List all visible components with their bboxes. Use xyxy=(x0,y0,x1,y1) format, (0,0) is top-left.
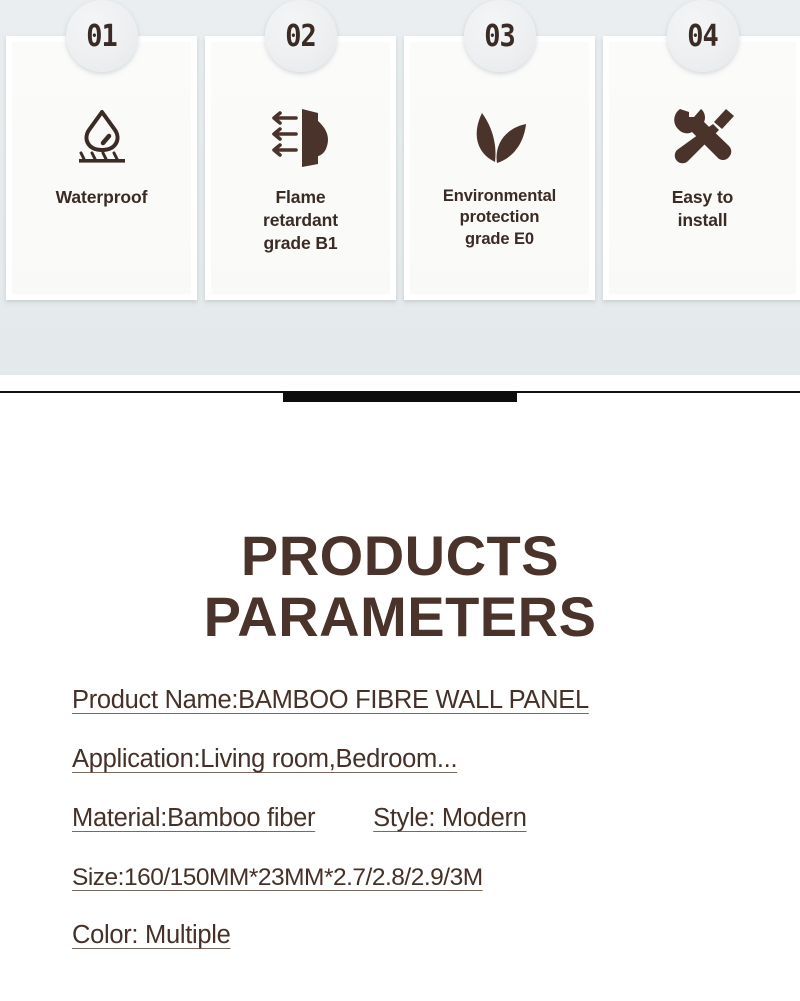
flame-retardant-panel-icon xyxy=(266,98,336,176)
parameter-row-color: Color: Multiple xyxy=(72,920,740,951)
feature-card-label-line: Flame xyxy=(275,187,325,207)
badge-number: 03 xyxy=(484,21,515,51)
feature-card-label-line: retardant xyxy=(263,210,338,230)
feature-badge-04: 04 xyxy=(667,0,739,72)
feature-card-inner: Environmental protection grade E0 xyxy=(410,42,589,294)
feature-card-easy-install[interactable]: 04 Easy to install xyxy=(603,36,800,300)
page-title-line1: PRODUCTS xyxy=(241,524,559,587)
badge-number: 01 xyxy=(86,21,117,51)
parameters-list: Product Name:BAMBOO FIBRE WALL PANEL App… xyxy=(0,685,800,951)
parameter-row-size: Size:160/150MM*23MM*2.7/2.8/2.9/3M xyxy=(72,863,740,893)
feature-card-label-line: install xyxy=(678,210,728,230)
feature-card-label-line: grade B1 xyxy=(263,233,337,253)
parameter-value: Product Name:BAMBOO FIBRE WALL PANEL xyxy=(72,686,589,714)
feature-card-environmental[interactable]: 03 Environmental protection grade E0 xyxy=(404,36,595,300)
badge-number: 04 xyxy=(687,21,718,51)
parameter-value-style: Style: Modern xyxy=(373,804,526,832)
parameter-value: Size:160/150MM*23MM*2.7/2.8/2.9/3M xyxy=(72,864,483,891)
feature-card-label: Flame retardant grade B1 xyxy=(211,186,390,254)
feature-card-label-line: grade E0 xyxy=(465,230,534,248)
section-divider xyxy=(0,375,800,487)
feature-card-inner: Easy to install xyxy=(609,42,796,294)
feature-card-waterproof[interactable]: 01 Waterproof xyxy=(6,36,197,300)
feature-card-label: Easy to install xyxy=(609,186,796,232)
leaves-icon xyxy=(466,98,534,176)
feature-badge-01: 01 xyxy=(66,0,138,72)
features-section: 01 Waterproof xyxy=(0,0,800,375)
parameter-value-material: Material:Bamboo fiber xyxy=(72,804,315,832)
parameter-value: Application:Living room,Bedroom... xyxy=(72,745,457,773)
feature-card-label: Waterproof xyxy=(12,186,191,209)
wrench-screwdriver-icon xyxy=(668,98,738,176)
feature-card-label-line: protection xyxy=(460,208,540,226)
feature-cards-row: 01 Waterproof xyxy=(0,36,800,302)
feature-badge-03: 03 xyxy=(464,0,536,72)
divider-center-tab xyxy=(283,391,517,402)
parameter-row-application: Application:Living room,Bedroom... xyxy=(72,744,740,775)
feature-card-inner: Waterproof xyxy=(12,42,191,294)
product-parameters-section: PRODUCTS PARAMETERS Product Name:BAMBOO … xyxy=(0,525,800,952)
badge-number: 02 xyxy=(285,21,316,51)
feature-card-flame-retardant[interactable]: 02 Flame reta xyxy=(205,36,396,300)
feature-card-label: Environmental protection grade E0 xyxy=(410,186,589,250)
feature-badge-02: 02 xyxy=(265,0,337,72)
parameter-row-material-style: Material:Bamboo fiberStyle: Modern xyxy=(72,803,740,834)
water-drop-icon xyxy=(69,98,135,176)
feature-card-label-line: Easy to xyxy=(672,187,734,207)
parameter-value: Color: Multiple xyxy=(72,921,230,949)
page-title: PRODUCTS PARAMETERS xyxy=(0,525,800,648)
parameter-row-product-name: Product Name:BAMBOO FIBRE WALL PANEL xyxy=(72,685,740,716)
feature-card-label-line: Environmental xyxy=(443,187,556,205)
page-title-line2: PARAMETERS xyxy=(70,586,730,648)
feature-card-inner: Flame retardant grade B1 xyxy=(211,42,390,294)
